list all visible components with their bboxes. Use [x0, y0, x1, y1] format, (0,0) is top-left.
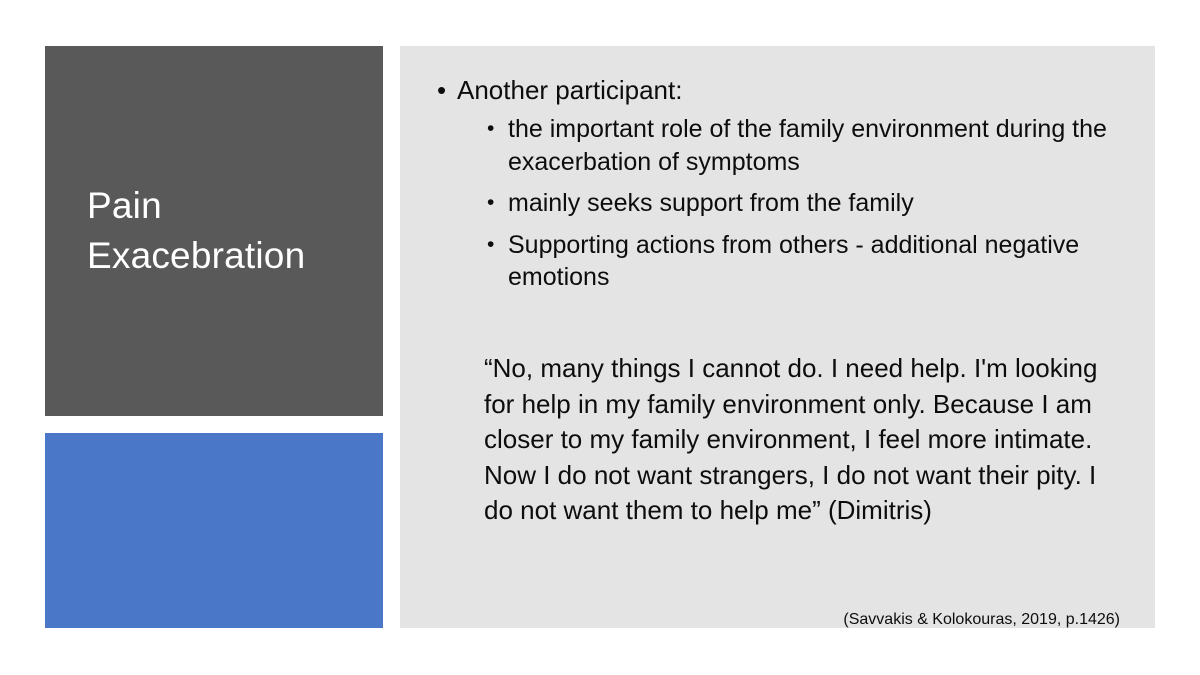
- content-panel: • Another participant: • the important r…: [400, 46, 1155, 628]
- bullet-dot-icon: •: [487, 113, 494, 146]
- source-citation: (Savvakis & Kolokouras, 2019, p.1426): [843, 611, 1120, 629]
- slide-canvas: Pain Exacebration • Another participant:…: [0, 0, 1200, 675]
- slide-title-line-1: Pain: [87, 181, 369, 231]
- list-item-label: Another participant:: [457, 75, 682, 105]
- list-item-label: Supporting actions from others - additio…: [508, 231, 1079, 292]
- participant-quote: “No, many things I cannot do. I need hel…: [484, 351, 1129, 529]
- accent-color-block: [45, 433, 383, 628]
- sub-bullet-list: • the important role of the family envir…: [435, 113, 1135, 294]
- bullet-dot-icon: •: [487, 229, 494, 262]
- list-item: • mainly seeks support from the family: [485, 187, 1135, 220]
- list-item: • Supporting actions from others - addit…: [485, 229, 1135, 294]
- list-item-label: the important role of the family environ…: [508, 115, 1107, 176]
- list-item: • the important role of the family envir…: [485, 113, 1135, 178]
- slide-title-line-2: Exacebration: [87, 231, 369, 281]
- list-item-label: mainly seeks support from the family: [508, 189, 914, 217]
- slide-title-block: Pain Exacebration: [45, 46, 383, 416]
- bullet-dot-icon: •: [437, 74, 446, 107]
- bullet-list: • Another participant: • the important r…: [435, 74, 1135, 303]
- bullet-dot-icon: •: [487, 187, 494, 220]
- list-item: • Another participant:: [435, 74, 1135, 107]
